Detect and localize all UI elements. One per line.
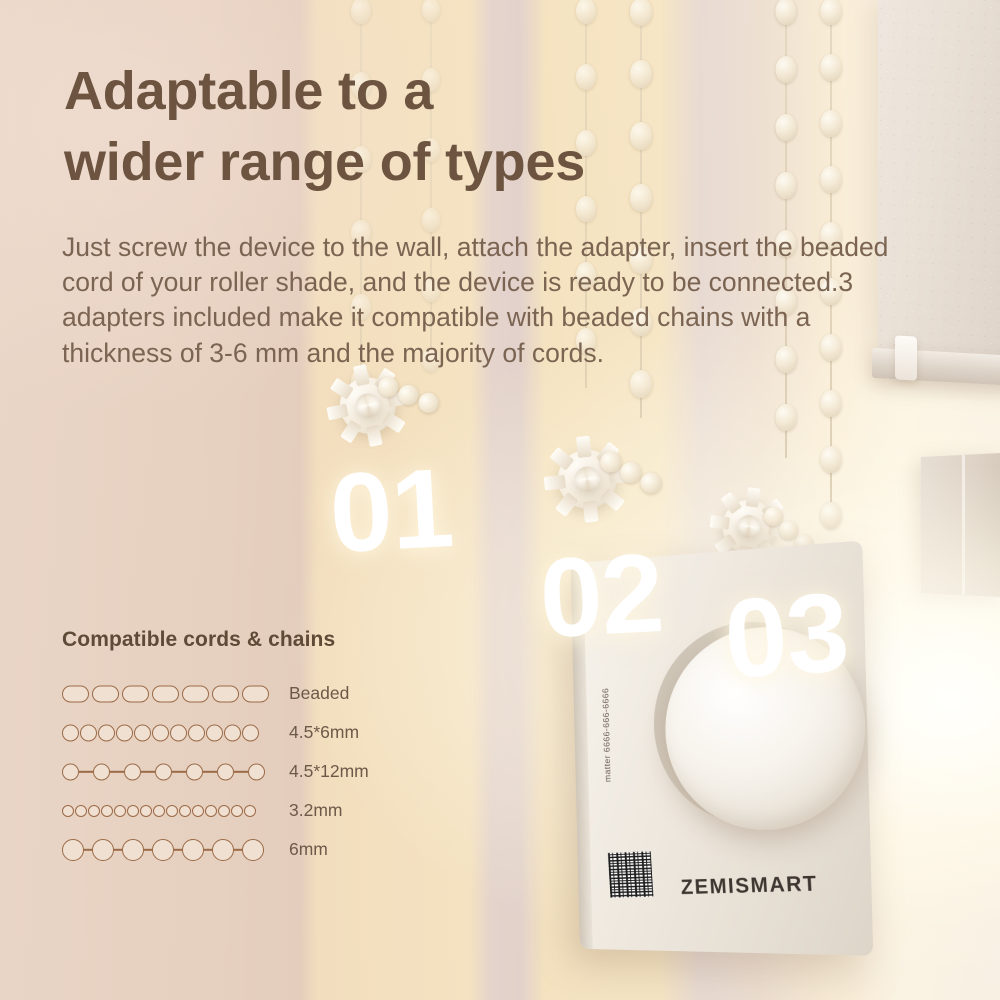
- cord-row: Beaded: [62, 674, 462, 713]
- cord-link: [62, 685, 89, 702]
- cord-link: [170, 724, 187, 741]
- brand-logo: ZEMISMART: [680, 872, 818, 900]
- cord-row: 4.5*6mm: [62, 713, 462, 752]
- cord-connector: [203, 770, 217, 772]
- cord-link: [101, 805, 113, 817]
- cord-row: 6mm: [62, 830, 462, 869]
- cord-link: [62, 724, 79, 741]
- qr-code-icon: [608, 851, 653, 897]
- cord-link: [155, 763, 172, 780]
- cord-link: [242, 724, 259, 741]
- cord-link: [242, 685, 269, 702]
- cord-link: [92, 839, 114, 861]
- cord-link: [152, 839, 174, 861]
- cord-label: Beaded: [289, 683, 349, 704]
- cord-link: [224, 724, 241, 741]
- cord-link: [218, 805, 230, 817]
- cord-link: [192, 805, 204, 817]
- cord-link: [217, 763, 234, 780]
- cord-link: [244, 805, 256, 817]
- cord-link: [231, 805, 243, 817]
- cord-link: [122, 685, 149, 702]
- step-number-02: 02: [537, 537, 665, 655]
- cord-link: [75, 805, 87, 817]
- compatible-cords-list: Beaded4.5*6mm4.5*12mm3.2mm6mm: [62, 674, 462, 869]
- cord-link: [62, 763, 79, 780]
- cord-link: [152, 724, 169, 741]
- cord-link: [98, 724, 115, 741]
- cord-link: [248, 763, 265, 780]
- cord-link: [212, 839, 234, 861]
- cord-connector: [172, 770, 186, 772]
- cord-link: [153, 805, 165, 817]
- cord-link: [182, 839, 204, 861]
- headline-line-2: wider range of types: [64, 127, 764, 198]
- cord-link: [188, 724, 205, 741]
- cord-link: [212, 685, 239, 702]
- cord-connector: [144, 848, 152, 850]
- cord-connector: [234, 770, 248, 772]
- cord-link: [205, 805, 217, 817]
- page-title: Adaptable to a wider range of types: [64, 56, 764, 199]
- cord-diagram-spaced-large: [62, 837, 267, 863]
- cord-link: [182, 685, 209, 702]
- cord-connector: [234, 848, 242, 850]
- cord-link: [186, 763, 203, 780]
- cord-row: 4.5*12mm: [62, 752, 462, 791]
- cord-diagram-oval: [62, 681, 267, 707]
- cord-link: [93, 763, 110, 780]
- body-description: Just screw the device to the wall, attac…: [62, 230, 922, 371]
- cord-link: [124, 763, 141, 780]
- product-marketing-image: matter 6666-666-6666 ZEMISMART Adaptable…: [0, 0, 1000, 1000]
- step-number-01: 01: [327, 452, 455, 570]
- cord-connector: [110, 770, 124, 772]
- cord-link: [166, 805, 178, 817]
- matter-certification-label: matter 6666-666-6666: [601, 688, 613, 783]
- cord-diagram-spaced: [62, 759, 267, 785]
- cord-diagram-touching: [62, 720, 267, 746]
- cord-link: [92, 685, 119, 702]
- headline-line-1: Adaptable to a: [64, 56, 764, 127]
- cord-link: [62, 805, 74, 817]
- cord-label: 4.5*12mm: [289, 761, 369, 782]
- cord-diagram-touching: [62, 798, 267, 824]
- cord-link: [122, 839, 144, 861]
- cord-link: [80, 724, 97, 741]
- cord-label: 4.5*6mm: [289, 722, 359, 743]
- cord-link: [242, 839, 264, 861]
- cord-link: [152, 685, 179, 702]
- compatible-cords-panel: Compatible cords & chains Beaded4.5*6mm4…: [62, 628, 462, 869]
- cord-link: [88, 805, 100, 817]
- cord-connector: [114, 848, 122, 850]
- cord-connector: [79, 770, 93, 772]
- cord-link: [206, 724, 223, 741]
- cord-link: [179, 805, 191, 817]
- cord-link: [134, 724, 151, 741]
- cord-link: [127, 805, 139, 817]
- cord-connector: [204, 848, 212, 850]
- cord-link: [62, 839, 84, 861]
- cord-connector: [84, 848, 92, 850]
- cord-row: 3.2mm: [62, 791, 462, 830]
- cord-label: 3.2mm: [289, 800, 342, 821]
- cord-link: [114, 805, 126, 817]
- cord-label: 6mm: [289, 839, 328, 860]
- step-number-03: 03: [721, 576, 851, 696]
- cord-link: [116, 724, 133, 741]
- cord-link: [140, 805, 152, 817]
- cord-connector: [141, 770, 155, 772]
- compatible-cords-title: Compatible cords & chains: [62, 628, 462, 652]
- cord-connector: [174, 848, 182, 850]
